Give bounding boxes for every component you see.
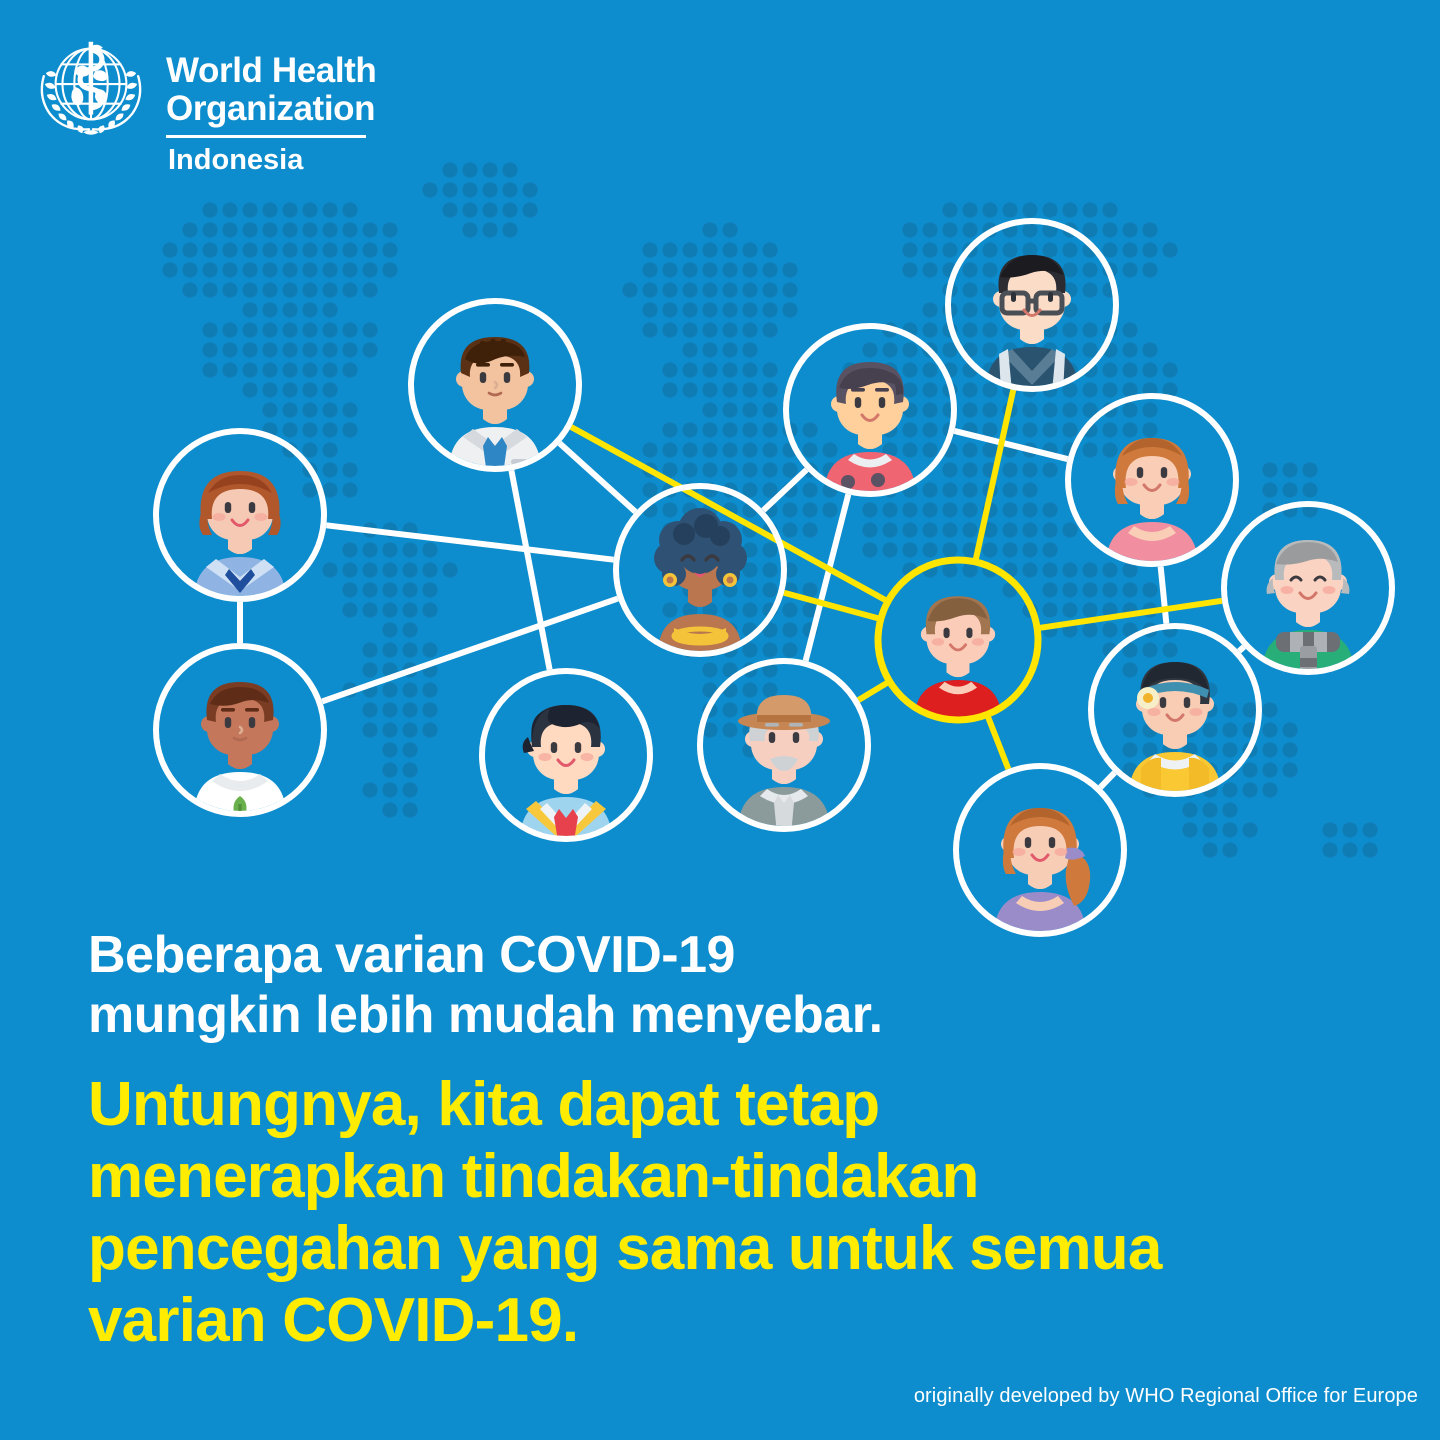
network-edge-white [1239, 647, 1244, 651]
yellow-copy-line-3: pencegahan yang sama untuk semua [88, 1213, 1378, 1285]
network-edge-white [1161, 567, 1167, 624]
logo-line-2: Organization [166, 90, 376, 128]
network-node-woman-pink-top[interactable]: woman with auburn hair and pink top [1068, 396, 1236, 588]
logo-line-1: World Health [166, 52, 376, 90]
network-edge-white [1100, 773, 1114, 788]
network-node-girl-flower-yellow[interactable]: girl with flower hair clip and yellow to… [1091, 626, 1259, 818]
yellow-copy-line-1: Untungnya, kita dapat tetap [88, 1069, 1378, 1141]
logo-country-label: Indonesia [166, 144, 376, 176]
network-edge-yellow [784, 593, 878, 618]
network-node-man-shirt-tie[interactable]: man in white shirt with blue tie [411, 301, 579, 493]
network-edge-white [322, 599, 618, 702]
network-edge-yellow [858, 683, 886, 700]
network-edge-white [954, 431, 1067, 459]
network-edge-white [511, 470, 549, 669]
network-node-boy-red-shirt[interactable]: boy in red shirt highlighted centre node [878, 560, 1038, 743]
yellow-copy-line-2: menerapkan tindakan-tindakan [88, 1141, 1378, 1213]
who-logo: World Health Organization Indonesia [32, 28, 376, 176]
yellow-copy-line-4: varian COVID-19. [88, 1285, 1378, 1357]
infographic-poster: World Health Organization Indonesia woma… [0, 0, 1440, 1440]
network-edge-yellow [988, 717, 1008, 769]
network-node-girl-ponytail[interactable]: girl with ponytail and purple top [956, 766, 1124, 950]
who-logo-wordmark: World Health Organization Indonesia [166, 28, 376, 176]
network-edge-white [326, 525, 613, 559]
white-copy-line-2: mungkin lebih mudah menyebar. [88, 985, 1378, 1045]
network-node-man-leaf-tshirt[interactable]: man in white t-shirt with green leaf [156, 646, 324, 838]
network-node-woman-afro[interactable]: woman with dark blue afro and gold jewel… [616, 486, 784, 674]
network-node-student-yellow-vest[interactable]: student with black hair and yellow vest [482, 671, 650, 863]
network-node-boy-polka-shirt[interactable]: boy with grey hair and pink polka dot sh… [786, 326, 954, 518]
network-edge-yellow [1040, 601, 1222, 628]
network-node-woman-brown-bob[interactable]: woman with brown bob and blue blouse [156, 431, 324, 623]
who-emblem-icon [32, 28, 150, 146]
network-node-man-glasses[interactable]: man with glasses and navy jacket [948, 221, 1116, 413]
yellow-statement: Untungnya, kita dapat tetapmenerapkan ti… [88, 1069, 1378, 1357]
network-node-elder-hat[interactable]: elderly man with hat and grey moustache [700, 661, 868, 853]
transmission-network-diagram: woman with brown bob and blue blouseman … [0, 150, 1440, 950]
white-statement: Beberapa varian COVID-19mungkin lebih mu… [88, 925, 1378, 1045]
credit-line: originally developed by WHO Regional Off… [914, 1385, 1418, 1408]
network-edge-white [763, 470, 806, 511]
message-copy: Beberapa varian COVID-19mungkin lebih mu… [88, 925, 1378, 1357]
white-copy-line-1: Beberapa varian COVID-19 [88, 925, 1378, 985]
network-edge-yellow [976, 390, 1013, 559]
logo-divider [166, 135, 366, 138]
